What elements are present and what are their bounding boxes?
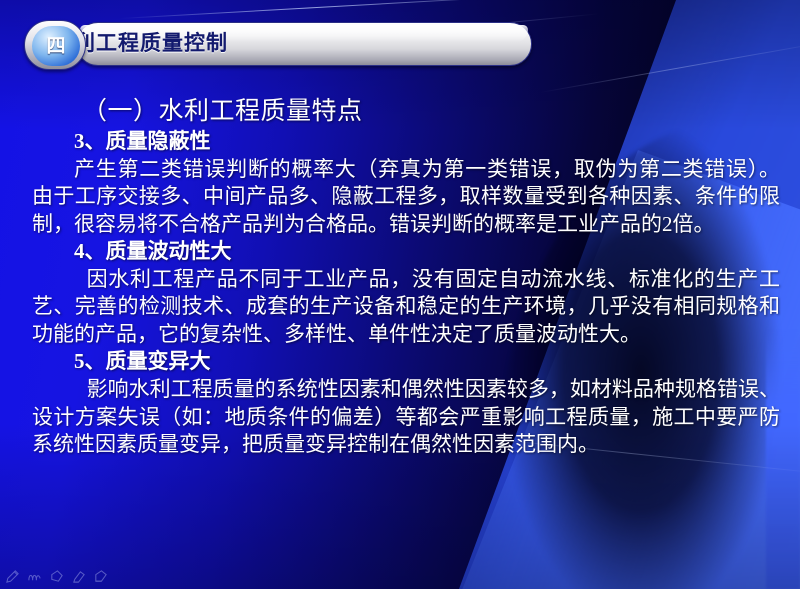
body-paragraph-5: 影响水利工程质量的系统性因素和偶然性因素较多，如材料品种规格错误、设计方案失误（…: [30, 376, 782, 459]
subheading-4: 4、质量波动性大: [30, 238, 782, 266]
page-title: （一）水利工程质量特点: [30, 96, 782, 128]
body-paragraph-4: 因水利工程产品不同于工业产品，没有固定自动流水线、标准化的生产工艺、完善的检测技…: [30, 266, 782, 349]
section-number-badge-inner: 四: [32, 26, 80, 66]
slide-header: 水利工程质量控制 四: [24, 20, 532, 70]
ink-toolbar[interactable]: [5, 569, 108, 584]
pen-icon[interactable]: [5, 569, 20, 584]
highlighter-icon[interactable]: [71, 569, 86, 584]
subheading-3: 3、质量隐蔽性: [30, 128, 782, 156]
slide-content: （一）水利工程质量特点 3、质量隐蔽性 产生第二类错误判断的概率大（弃真为第一类…: [30, 96, 782, 459]
section-number-label: 四: [46, 37, 65, 56]
eraser-icon[interactable]: [93, 569, 108, 584]
body-paragraph-3: 产生第二类错误判断的概率大（弃真为第一类错误，取伪为第二类错误）。 由于工序交接…: [30, 156, 782, 239]
slide-canvas: 水利工程质量控制 四 （一）水利工程质量特点 3、质量隐蔽性 产生第二类错误判断…: [0, 0, 800, 589]
subheading-5: 5、质量变异大: [30, 348, 782, 376]
scribble-icon[interactable]: [27, 569, 42, 584]
shape-icon[interactable]: [49, 569, 64, 584]
section-number-badge: 四: [24, 20, 86, 70]
